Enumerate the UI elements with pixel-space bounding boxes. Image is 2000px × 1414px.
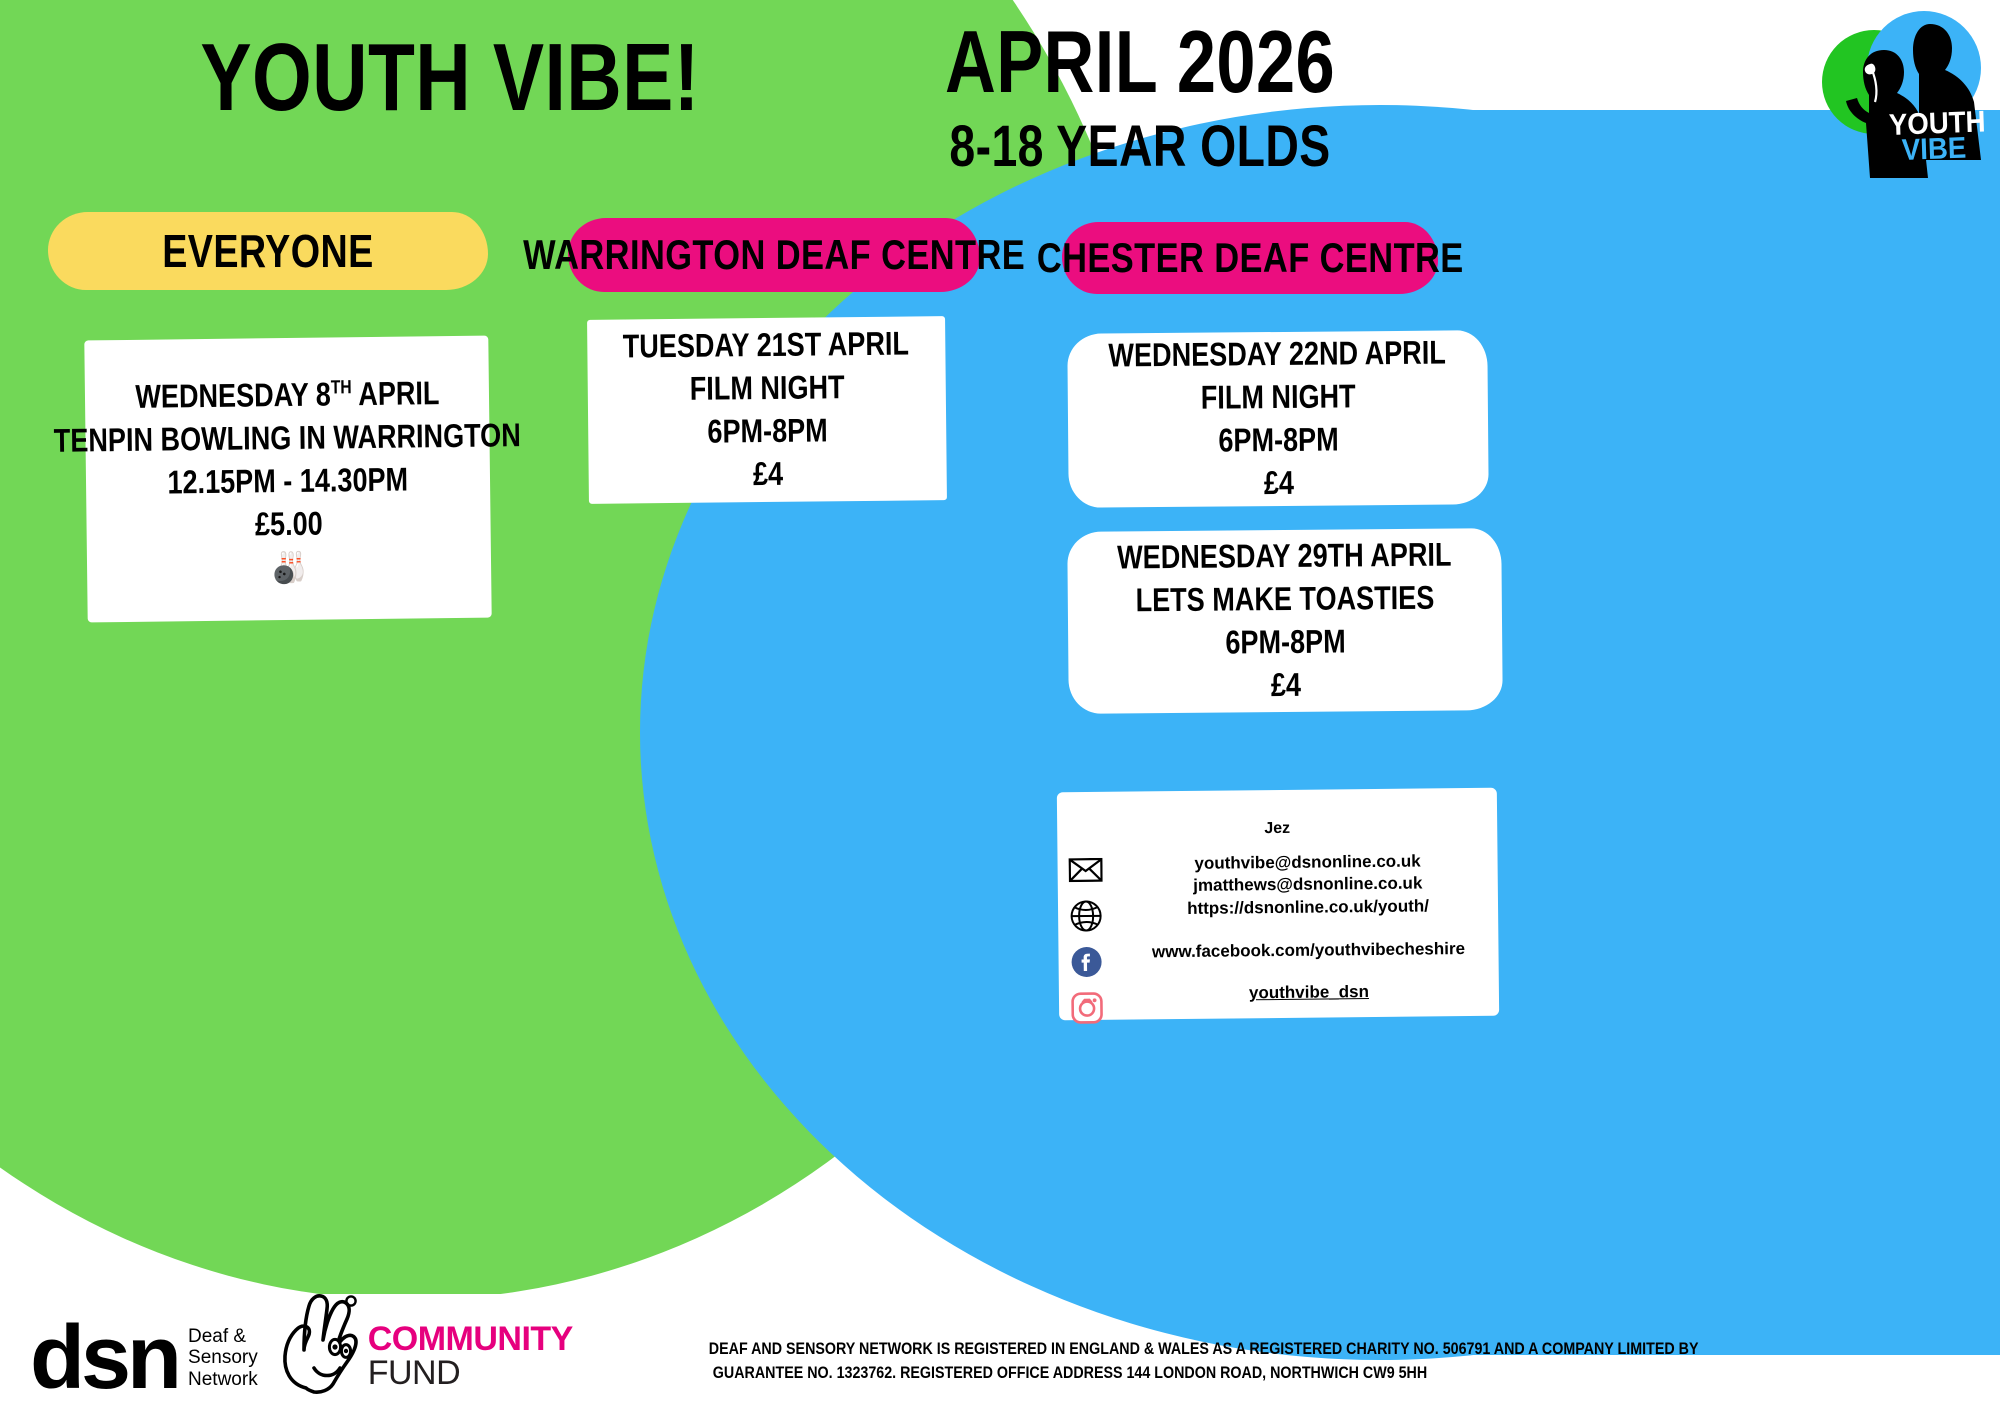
footer-logo-row: dsn Deaf & Sensory Network COMMUNITY FUN… [30,1292,573,1396]
event-date-ordinal: TH [330,377,351,398]
dsn-strapline-line1: Deaf & [188,1326,258,1347]
community-fund-word-community: COMMUNITY [368,1322,573,1356]
event-time: 6PM-8PM [707,409,828,453]
youth-vibe-logo: YOUTH VIBE [1812,2,1992,182]
envelope-icon [1065,850,1105,890]
poster-age-range: 8-18 YEAR OLDS [892,118,1388,176]
footer-legal-line-2: GUARANTEE NO. 1323762. REGISTERED OFFICE… [709,1361,1431,1386]
poster-canvas: YOUTH VIBE! APRIL 2026 8-18 YEAR OLDS YO… [0,0,2000,1414]
event-time: 12.15PM - 14.30PM [167,459,408,505]
footer-legal-line-1: DEAF AND SENSORY NETWORK IS REGISTERED I… [709,1337,1431,1362]
facebook-icon[interactable] [1066,942,1106,982]
event-price: £5.00 [254,502,322,546]
instagram-icon[interactable] [1067,988,1107,1028]
event-activity: LETS MAKE TOASTIES [1135,577,1434,622]
event-date-main: WEDNESDAY 8 [135,376,331,415]
footer-legal-text: DEAF AND SENSORY NETWORK IS REGISTERED I… [640,1337,1500,1386]
youth-vibe-logo-icon: YOUTH VIBE [1812,2,1992,182]
section-pill-warrington-deaf-centre: WARRINGTON DEAF CENTRE [568,218,980,292]
event-price: £4 [1270,664,1300,707]
bowling-icon: 🎳 [270,554,308,584]
event-card-warrington-film-night: TUESDAY 21ST APRIL FILM NIGHT 6PM-8PM £4 [587,316,947,504]
svg-text:VIBE: VIBE [1901,132,1966,168]
community-fund-word-fund: FUND [368,1356,573,1390]
event-date: WEDNESDAY 22ND APRIL [1109,332,1447,378]
event-date: TUESDAY 21ST APRIL [623,323,910,369]
event-card-chester-film-night: WEDNESDAY 22ND APRIL FILM NIGHT 6PM-8PM … [1067,330,1489,508]
event-time: 6PM-8PM [1218,418,1339,462]
event-date: WEDNESDAY 8TH APRIL [135,372,440,419]
contact-name: Jez [1057,818,1497,841]
event-activity: FILM NIGHT [689,366,844,411]
contact-website[interactable]: https://dsnonline.co.uk/youth/ [1128,895,1488,921]
globe-icon [1066,896,1106,936]
community-fund-wordmark: COMMUNITY FUND [368,1322,573,1396]
poster-month: APRIL 2026 [892,18,1388,106]
contact-card: Jez [1057,788,1499,1021]
event-card-everyone-bowling: WEDNESDAY 8TH APRIL TENPIN BOWLING IN WA… [84,336,491,623]
crossed-fingers-icon [276,1292,362,1396]
dsn-strapline-line2: Sensory [188,1347,258,1368]
contact-icon-column [1065,850,1113,1034]
event-card-chester-toasties: WEDNESDAY 29TH APRIL LETS MAKE TOASTIES … [1067,528,1503,714]
contact-instagram[interactable]: youthvibe_dsn [1129,981,1489,1005]
event-date: WEDNESDAY 29TH APRIL [1117,534,1452,580]
poster-title: YOUTH VIBE! [186,30,714,126]
section-pill-everyone: EVERYONE [48,212,488,290]
section-pill-everyone-label: EVERYONE [162,224,373,278]
section-pill-warrington-label: WARRINGTON DEAF CENTRE [523,231,1025,279]
event-date-month: APRIL [351,374,439,412]
event-activity: FILM NIGHT [1200,375,1355,419]
section-pill-chester-deaf-centre: CHESTER DEAF CENTRE [1062,222,1438,294]
event-time: 6PM-8PM [1225,620,1346,664]
event-price: £4 [1263,462,1293,505]
dsn-strapline-line3: Network [188,1369,258,1390]
dsn-wordmark: dsn [30,1322,178,1396]
contact-facebook[interactable]: www.facebook.com/youthvibecheshire [1128,939,1488,963]
section-pill-chester-label: CHESTER DEAF CENTRE [1037,234,1464,282]
community-fund-logo: COMMUNITY FUND [276,1292,573,1396]
contact-detail-column: youthvibe@dsnonline.co.uk jmatthews@dsno… [1127,850,1489,1005]
blue-background-right-panel [1400,110,2000,1355]
event-price: £4 [752,453,783,496]
dsn-strapline: Deaf & Sensory Network [188,1326,258,1396]
dsn-logo: dsn Deaf & Sensory Network [30,1322,258,1396]
event-activity: TENPIN BOWLING IN WARRINGTON [54,414,522,463]
